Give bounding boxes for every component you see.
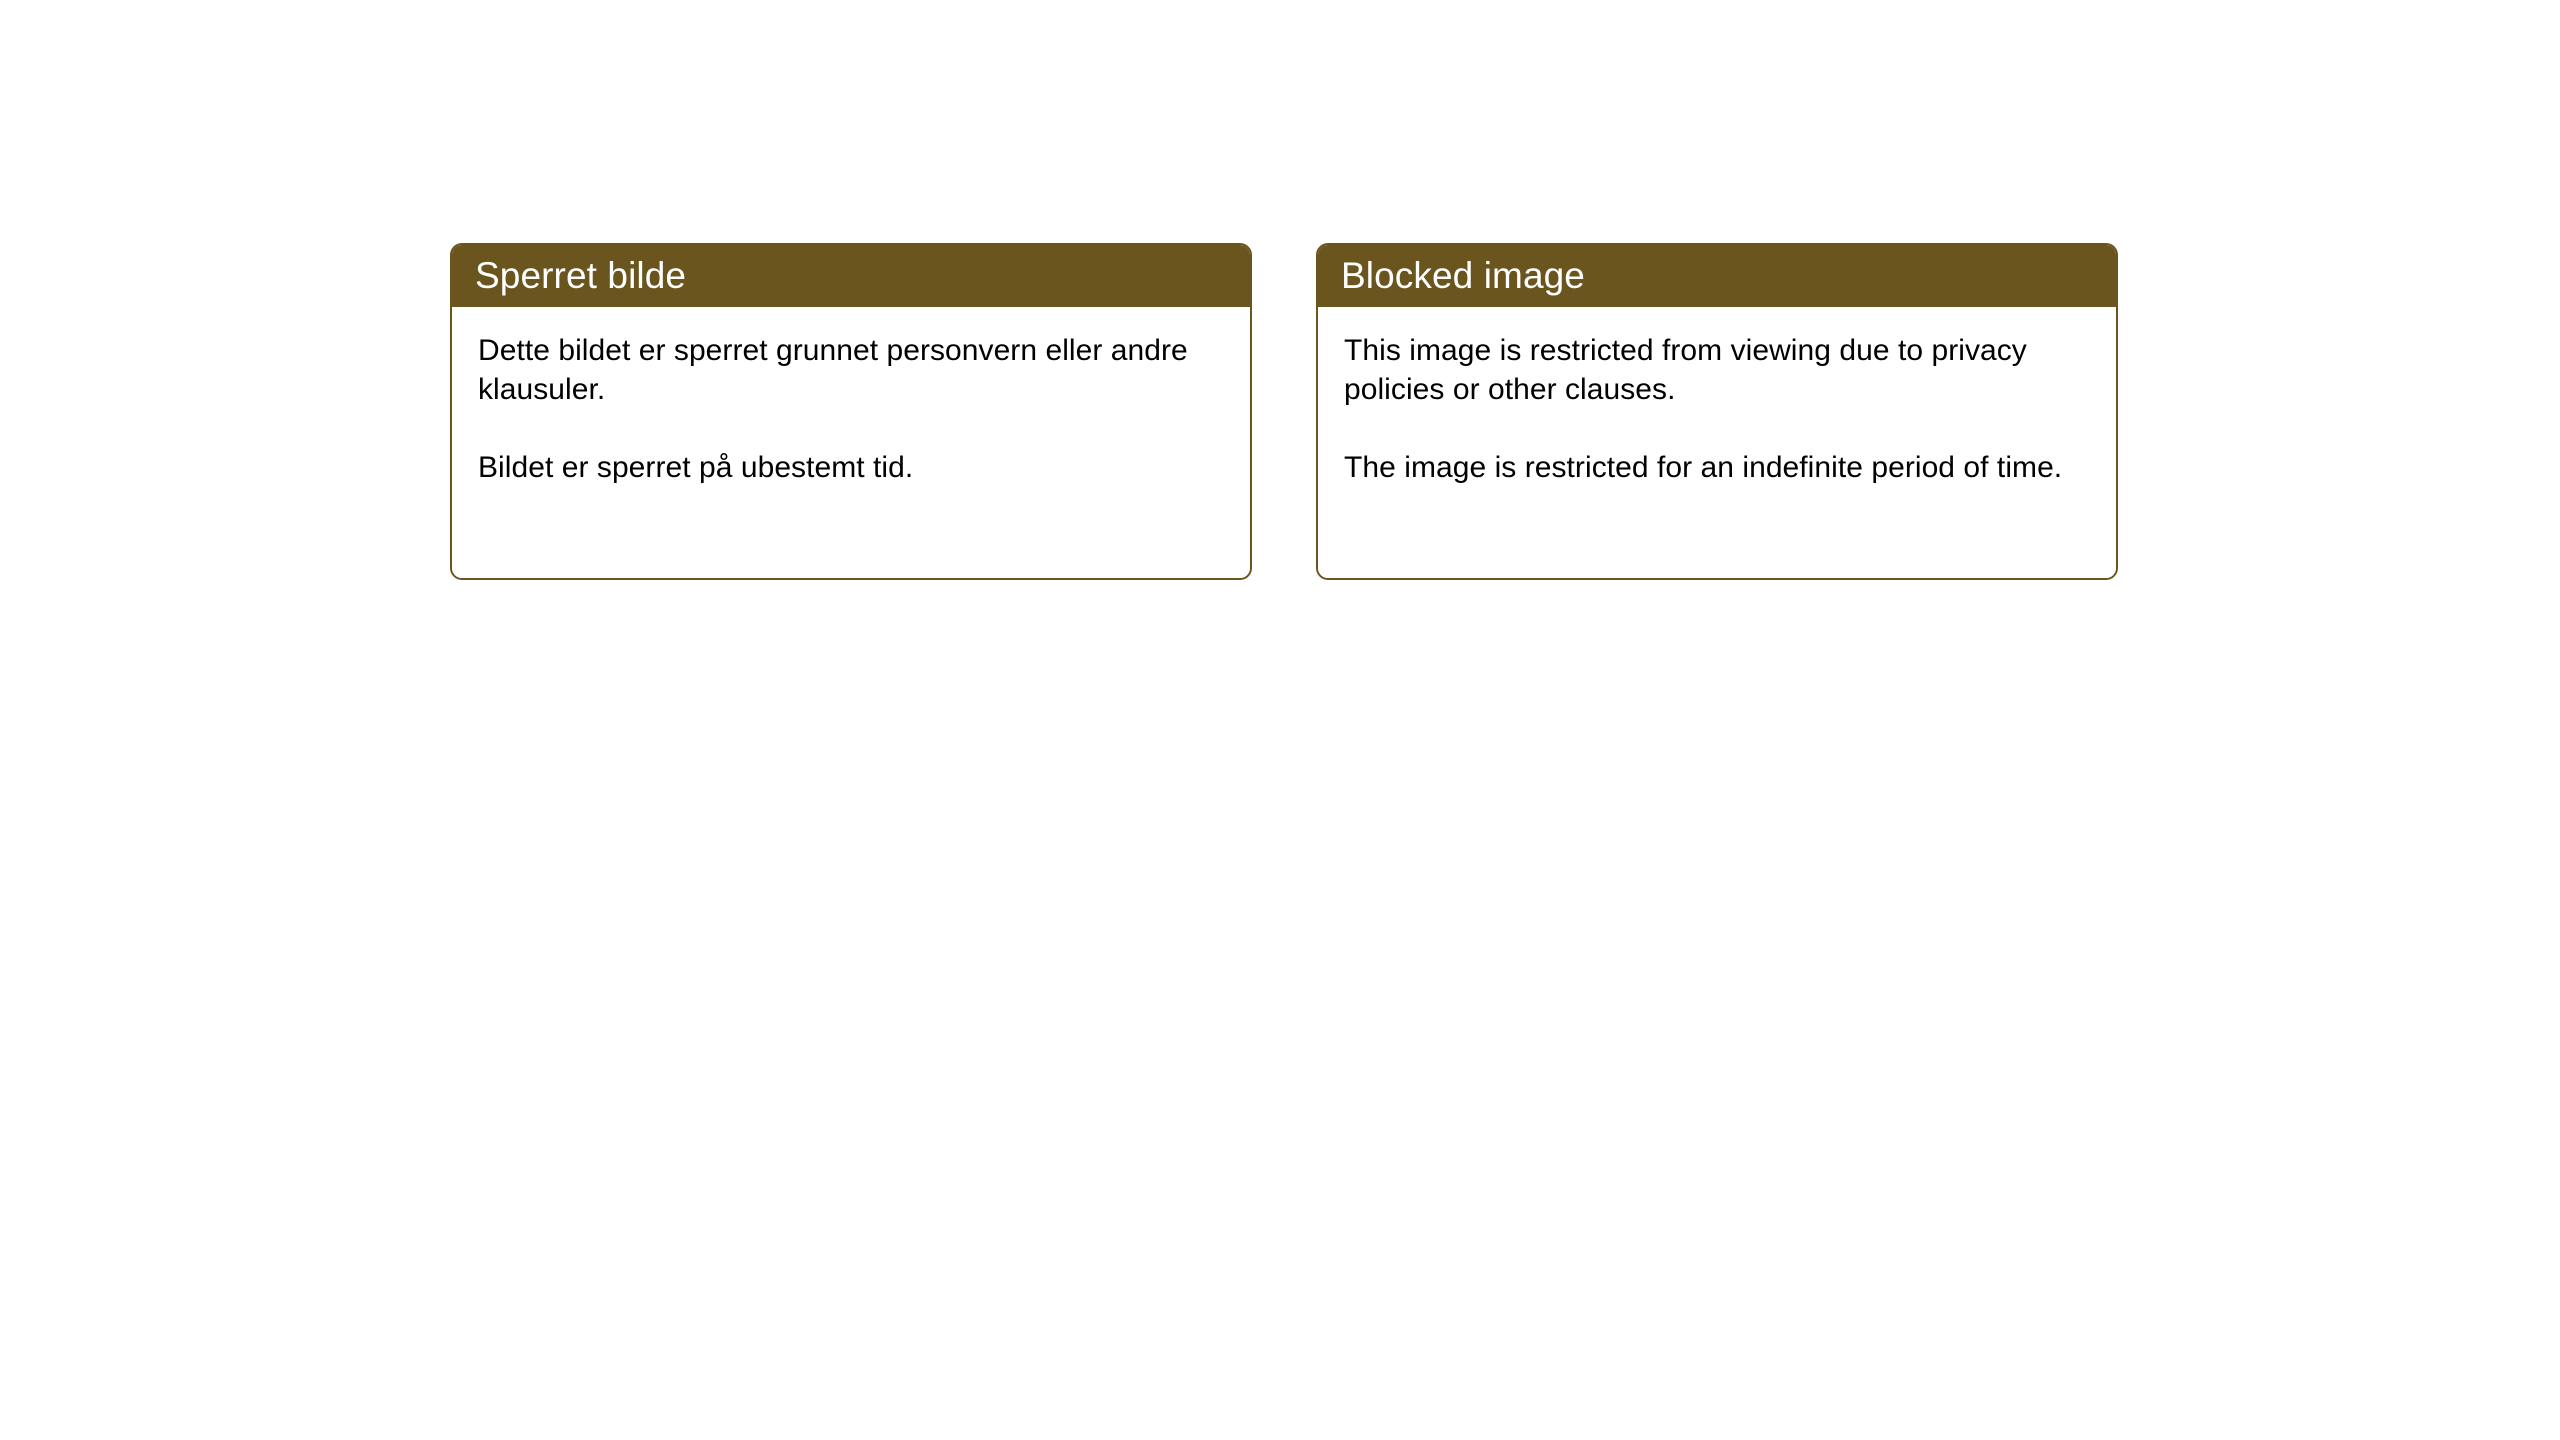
notice-title-no: Sperret bilde [475, 255, 686, 297]
notice-body-no: Dette bildet er sperret grunnet personve… [452, 307, 1250, 578]
notice-body-en: This image is restricted from viewing du… [1318, 307, 2116, 578]
notice-title-en: Blocked image [1341, 255, 1585, 297]
notice-header-no: Sperret bilde [451, 244, 1251, 307]
blocked-image-notice-card-no: Sperret bilde Dette bildet er sperret gr… [450, 243, 1252, 580]
blocked-image-notice-card-en: Blocked image This image is restricted f… [1316, 243, 2118, 580]
notice-paragraph-secondary-no: Bildet er sperret på ubestemt tid. [478, 448, 1224, 487]
blocked-image-notice-area: Sperret bilde Dette bildet er sperret gr… [450, 243, 2118, 580]
notice-paragraph-secondary-en: The image is restricted for an indefinit… [1344, 448, 2090, 487]
notice-paragraph-primary-no: Dette bildet er sperret grunnet personve… [478, 331, 1224, 409]
notice-header-en: Blocked image [1317, 244, 2117, 307]
notice-paragraph-primary-en: This image is restricted from viewing du… [1344, 331, 2090, 409]
